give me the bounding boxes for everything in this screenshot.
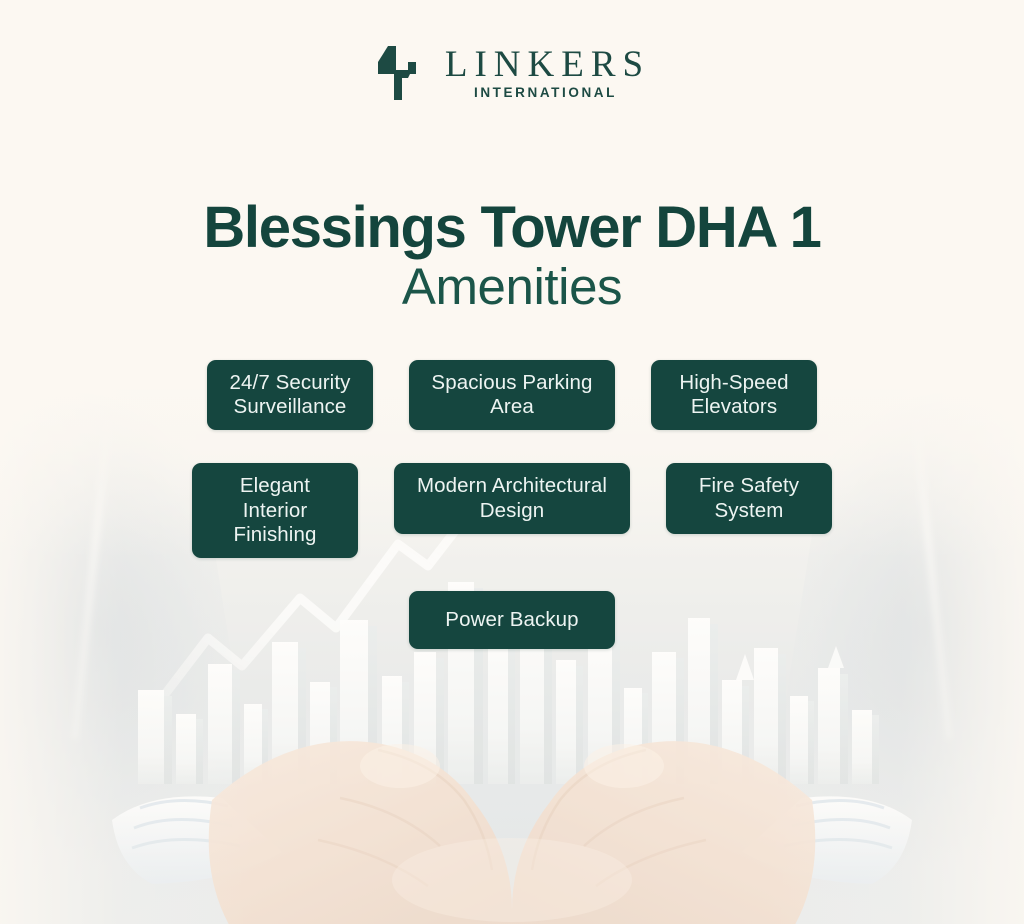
page-title: Blessings Tower DHA 1 Amenities (0, 198, 1024, 314)
amenity-label-line1: Spacious Parking (431, 371, 592, 395)
poster-canvas: LINKERS INTERNATIONAL Blessings Tower DH… (0, 0, 1024, 924)
amenity-label-line2: Surveillance (230, 395, 351, 419)
amenity-badge-power-backup[interactable]: Power Backup (409, 591, 615, 649)
amenity-label-line1: High-Speed (679, 371, 788, 395)
poster-content: LINKERS INTERNATIONAL Blessings Tower DH… (0, 0, 1024, 924)
amenities-row-2: Elegant Interior Finishing Modern Archit… (192, 463, 832, 558)
amenity-label-line1: Elegant Interior (214, 474, 336, 522)
amenities-row-3: Power Backup (409, 591, 615, 649)
brand-subtitle: INTERNATIONAL (471, 86, 617, 100)
amenity-label-line2: Finishing (214, 523, 336, 547)
brand-wordmark: LINKERS INTERNATIONAL (438, 46, 650, 100)
amenity-badge-interior-finishing[interactable]: Elegant Interior Finishing (192, 463, 358, 558)
amenities-row-1: 24/7 Security Surveillance Spacious Park… (207, 360, 817, 430)
amenity-label-line1: 24/7 Security (230, 371, 351, 395)
amenity-label-line1: Fire Safety (699, 474, 799, 498)
amenity-label-line2: Design (417, 499, 607, 523)
amenities-grid: 24/7 Security Surveillance Spacious Park… (0, 360, 1024, 649)
amenity-badge-parking[interactable]: Spacious Parking Area (409, 360, 615, 430)
title-line-secondary: Amenities (0, 260, 1024, 314)
amenity-badge-elevators[interactable]: High-Speed Elevators (651, 360, 817, 430)
amenity-badge-security[interactable]: 24/7 Security Surveillance (207, 360, 373, 430)
brand-name: LINKERS (438, 46, 650, 83)
amenity-label-line2: Elevators (679, 395, 788, 419)
lightning-bolt-l7-logo-icon (374, 44, 420, 102)
title-line-primary: Blessings Tower DHA 1 (0, 198, 1024, 258)
amenity-badge-fire-safety[interactable]: Fire Safety System (666, 463, 832, 533)
amenity-label-line1: Modern Architectural (417, 474, 607, 498)
amenity-badge-architectural-design[interactable]: Modern Architectural Design (394, 463, 630, 533)
brand-logo: LINKERS INTERNATIONAL (0, 44, 1024, 102)
amenity-label-line1: Power Backup (445, 608, 578, 632)
amenity-label-line2: System (699, 499, 799, 523)
amenity-label-line2: Area (431, 395, 592, 419)
